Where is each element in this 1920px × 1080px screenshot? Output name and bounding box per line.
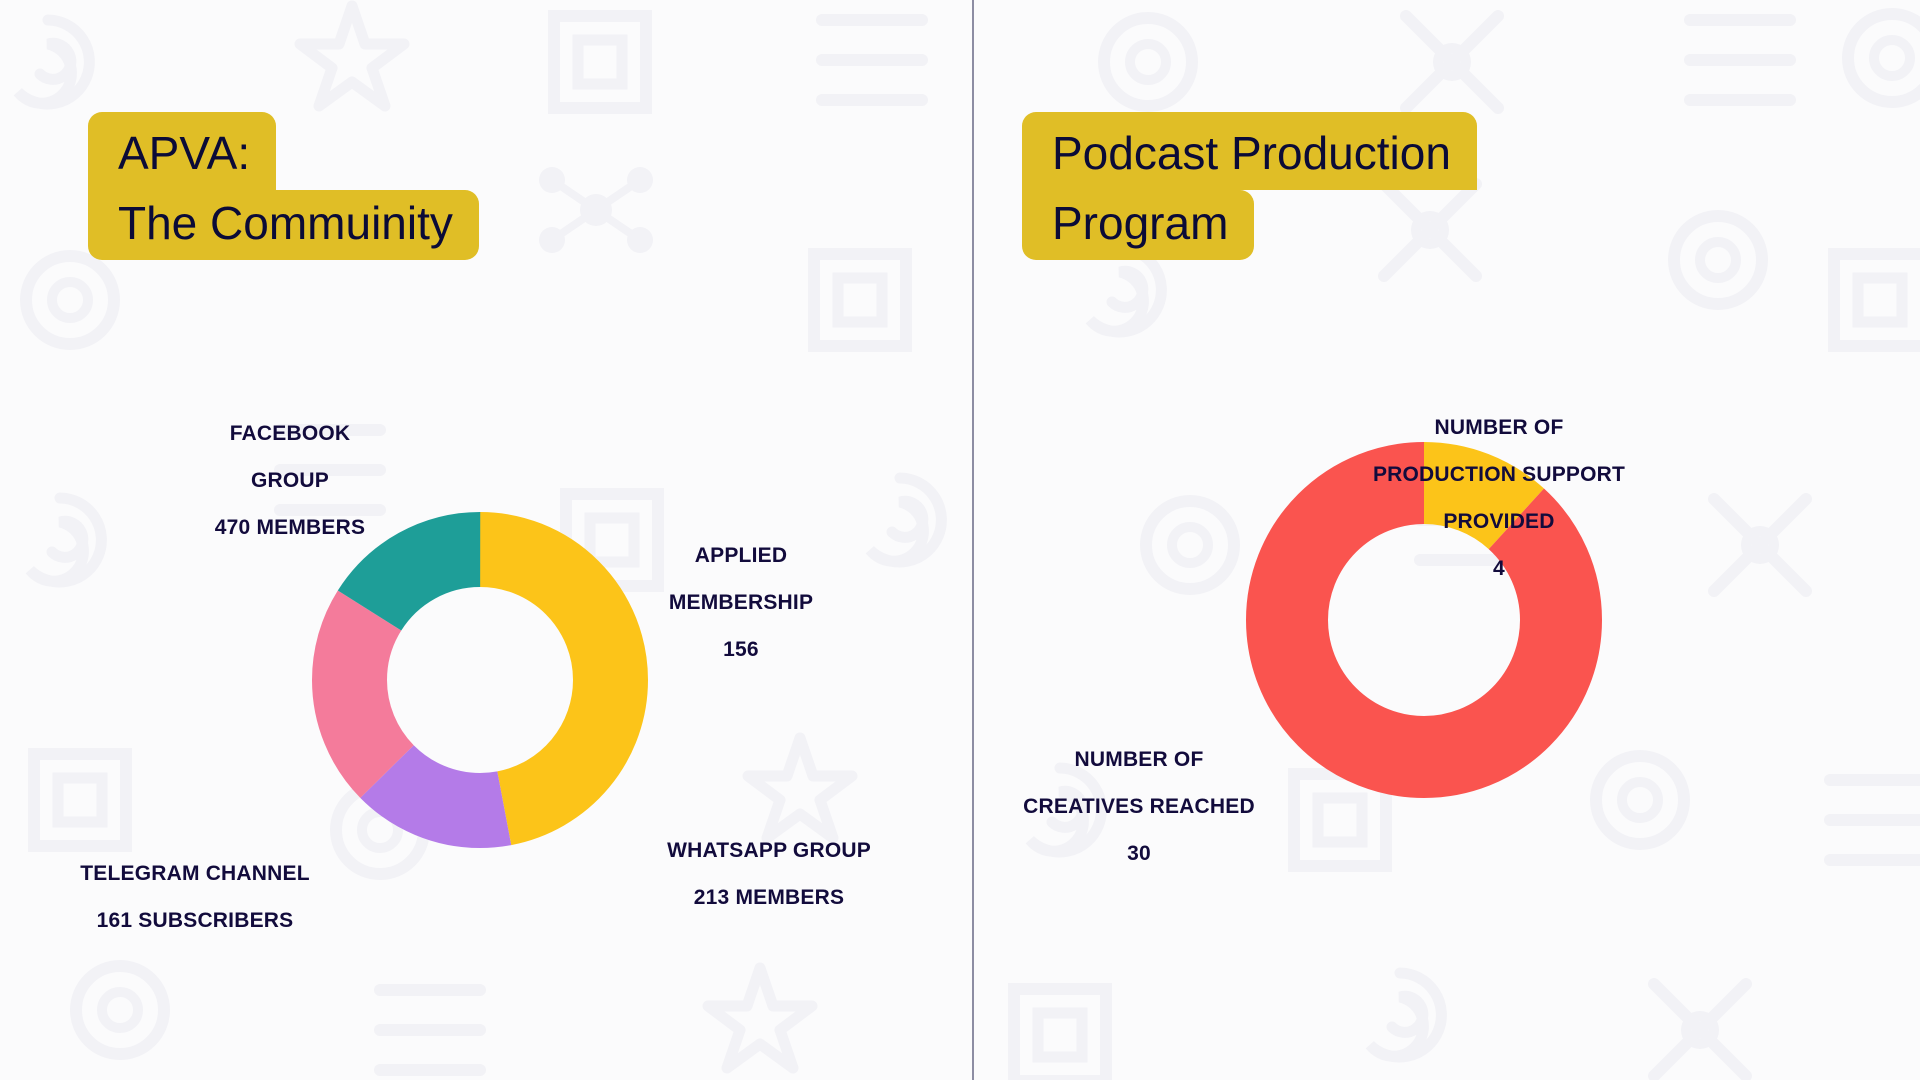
production-support-value: 4 [1334, 557, 1664, 581]
creatives-reached-value: 30 [994, 842, 1284, 866]
panel-apva-community: APVA: The Commuinity FACEBOOK GROUP 470 … [0, 0, 972, 1080]
label-telegram-channel: TELEGRAM CHANNEL 161 SUBSCRIBERS [50, 838, 340, 956]
production-support-line-2: PRODUCTION SUPPORT [1334, 463, 1664, 487]
label-creatives-reached: NUMBER OF CREATIVES REACHED 30 [994, 724, 1284, 889]
production-support-line-1: NUMBER OF [1334, 416, 1664, 440]
apva-title-line-2: The Commuinity [88, 190, 479, 260]
creatives-reached-line-2: CREATIVES REACHED [994, 795, 1284, 819]
podcast-title-badge: Podcast Production Program [1022, 112, 1477, 260]
slide-canvas: APVA: The Commuinity FACEBOOK GROUP 470 … [0, 0, 1920, 1080]
panel-podcast-production: Podcast Production Program NUMBER OF PRO… [974, 0, 1920, 1080]
applied-membership-line-1: APPLIED [630, 544, 852, 568]
applied-membership-line-2: MEMBERSHIP [630, 591, 852, 615]
apva-title-badge: APVA: The Commuinity [88, 112, 479, 260]
creatives-reached-line-1: NUMBER OF [994, 748, 1284, 772]
label-applied-membership: APPLIED MEMBERSHIP 156 [630, 520, 852, 685]
label-production-support: NUMBER OF PRODUCTION SUPPORT PROVIDED 4 [1334, 392, 1664, 604]
whatsapp-group-value: 213 MEMBERS [636, 886, 902, 910]
label-facebook-group: FACEBOOK GROUP 470 MEMBERS [168, 398, 412, 563]
facebook-group-line-2: GROUP [168, 469, 412, 493]
podcast-title-line-1: Podcast Production [1022, 112, 1477, 190]
podcast-title-line-2: Program [1022, 190, 1254, 260]
applied-membership-value: 156 [630, 638, 852, 662]
label-whatsapp-group: WHATSAPP GROUP 213 MEMBERS [636, 815, 902, 933]
telegram-channel-value: 161 SUBSCRIBERS [50, 909, 340, 933]
apva-title-line-1: APVA: [88, 112, 276, 190]
facebook-group-value: 470 MEMBERS [168, 516, 412, 540]
production-support-line-3: PROVIDED [1334, 510, 1664, 534]
whatsapp-group-line-1: WHATSAPP GROUP [636, 839, 902, 863]
telegram-channel-line-1: TELEGRAM CHANNEL [50, 862, 340, 886]
facebook-group-line-1: FACEBOOK [168, 422, 412, 446]
